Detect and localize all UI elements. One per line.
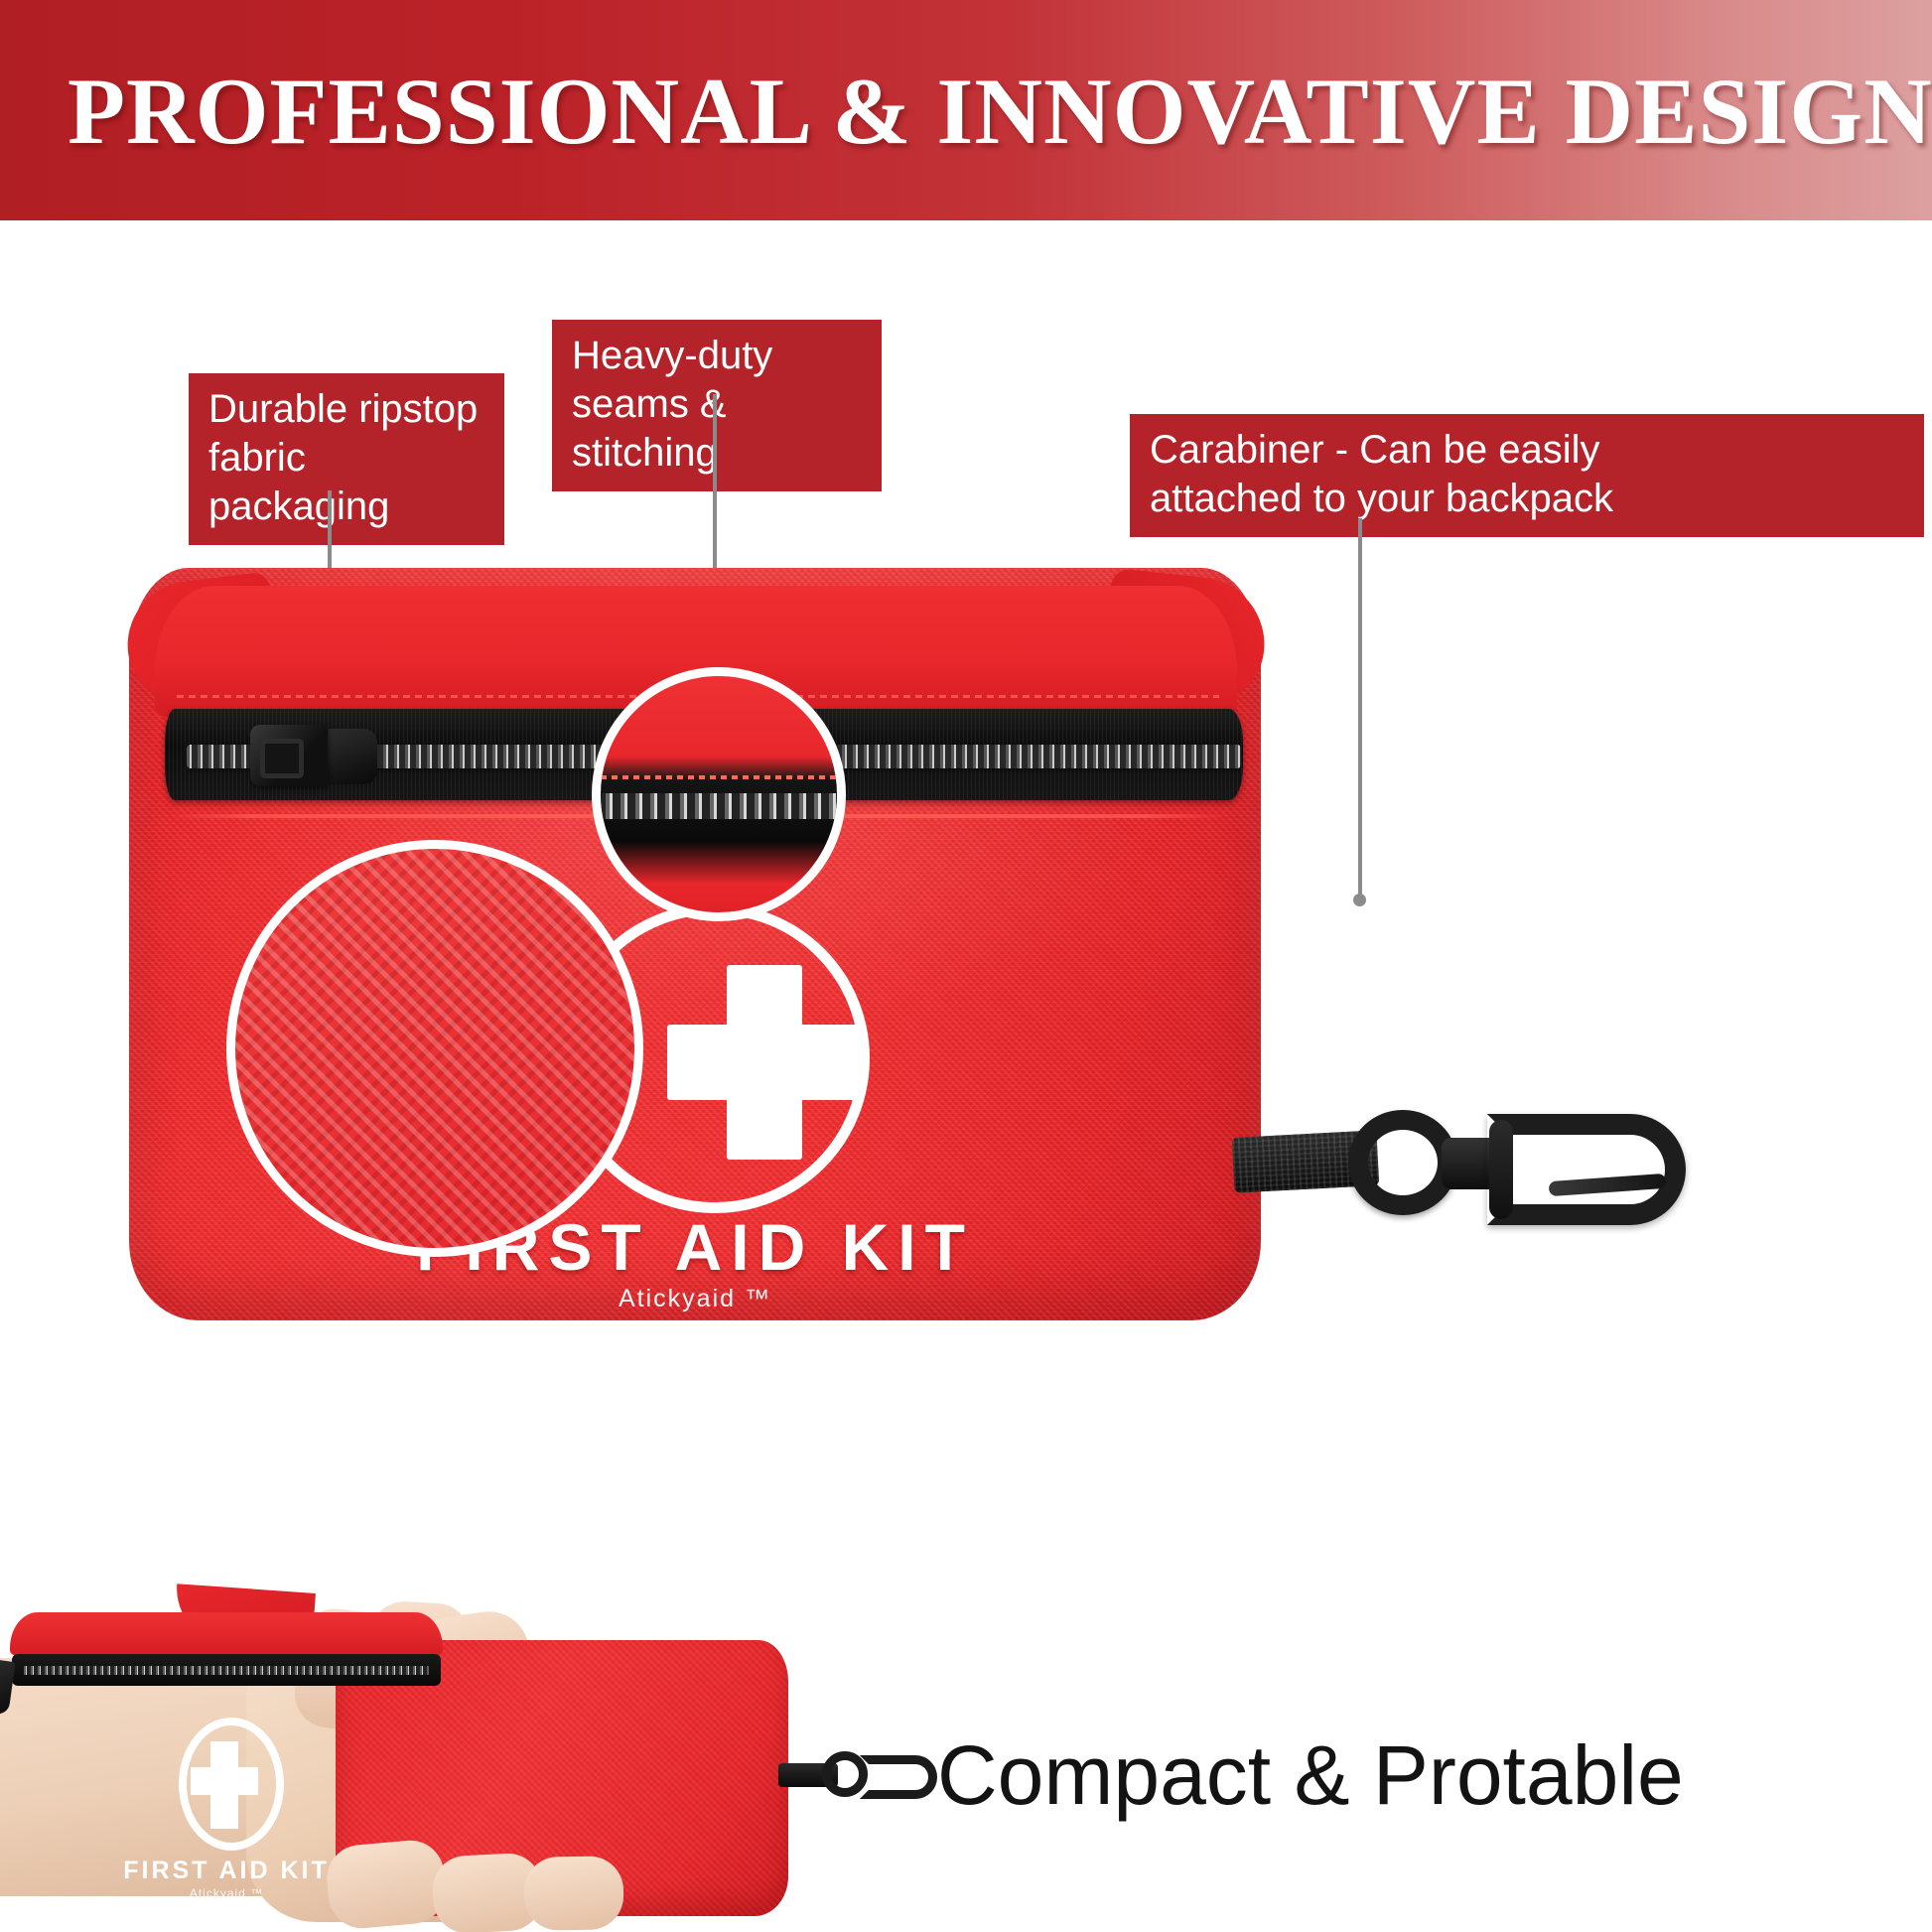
zipper-slider[interactable] [324, 729, 377, 784]
carabiner-hook-arm [1489, 1120, 1513, 1219]
bag-title-text: FIRST AID KIT [129, 1209, 1261, 1285]
leader-endpoint-dot [1353, 894, 1366, 906]
infographic-canvas: PROFESSIONAL & INNOVATIVE DESIGN Durable… [0, 0, 1932, 1932]
mini-bag-zipper-teeth [24, 1666, 429, 1675]
callout-label-fabric: Durable ripstop fabric packaging [189, 373, 504, 545]
seam-stitch-line [601, 775, 846, 779]
fabric-detail-circle [226, 840, 643, 1257]
mini-carabiner-hook [860, 1755, 937, 1799]
page-title: PROFESSIONAL & INNOVATIVE DESIGN [68, 57, 1884, 166]
seams-detail-circle [592, 667, 846, 921]
hand-holding-product: FIRST AID KIT Atickyaid ™ [0, 1606, 894, 1932]
footer-tagline: Compact & Protable [937, 1727, 1831, 1823]
finger [523, 1856, 623, 1931]
header-banner: PROFESSIONAL & INNOVATIVE DESIGN [0, 0, 1932, 220]
callout-label-seams: Heavy-duty seams & stitching [552, 320, 882, 491]
mini-bag-lip [10, 1612, 443, 1656]
mini-cross-horizontal-bar [191, 1767, 258, 1795]
carabiner-hook-body [1487, 1114, 1686, 1225]
bag-brand-text: Atickyaid ™ [129, 1285, 1261, 1313]
cross-horizontal-bar [667, 1025, 862, 1100]
seam-zipper-teeth [592, 793, 846, 819]
medical-cross-icon [665, 965, 764, 1064]
zipper-pull-tab[interactable] [250, 725, 328, 786]
callout-label-carabiner: Carabiner - Can be easily attached to yo… [1130, 414, 1924, 537]
leader-line-carabiner [1358, 518, 1362, 903]
finger [325, 1838, 449, 1931]
